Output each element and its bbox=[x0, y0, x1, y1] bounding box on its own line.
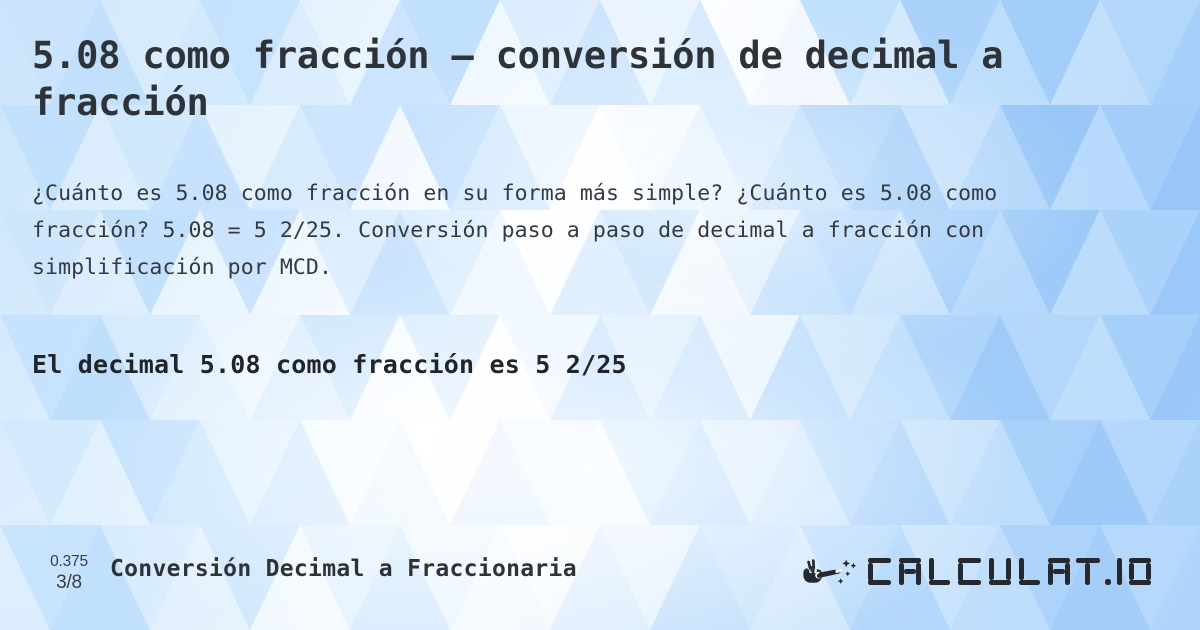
footer-title: Conversión Decimal a Fraccionaria bbox=[110, 552, 577, 586]
footer: 0.375 3/8 Conversión Decimal a Fracciona… bbox=[32, 549, 1168, 597]
brand-mark-fraction: 3/8 bbox=[32, 573, 106, 592]
brand-mark-decimal: 0.375 bbox=[32, 554, 106, 570]
page-title: 5.08 como fracción – conversión de decim… bbox=[32, 32, 1072, 126]
card-content: 5.08 como fracción – conversión de decim… bbox=[32, 0, 1104, 630]
calculatio-logo[interactable] bbox=[802, 551, 1154, 593]
answer-text: El decimal 5.08 como fracción es 5 2/25 bbox=[32, 348, 1072, 382]
og-card: 5.08 como fracción – conversión de decim… bbox=[0, 0, 1200, 630]
calculatio-wordmark bbox=[866, 555, 1154, 589]
magic-wand-hand-icon bbox=[802, 553, 860, 591]
summary-text: ¿Cuánto es 5.08 como fracción en su form… bbox=[32, 175, 1095, 286]
decimal-to-fraction-icon: 0.375 3/8 bbox=[32, 549, 106, 595]
